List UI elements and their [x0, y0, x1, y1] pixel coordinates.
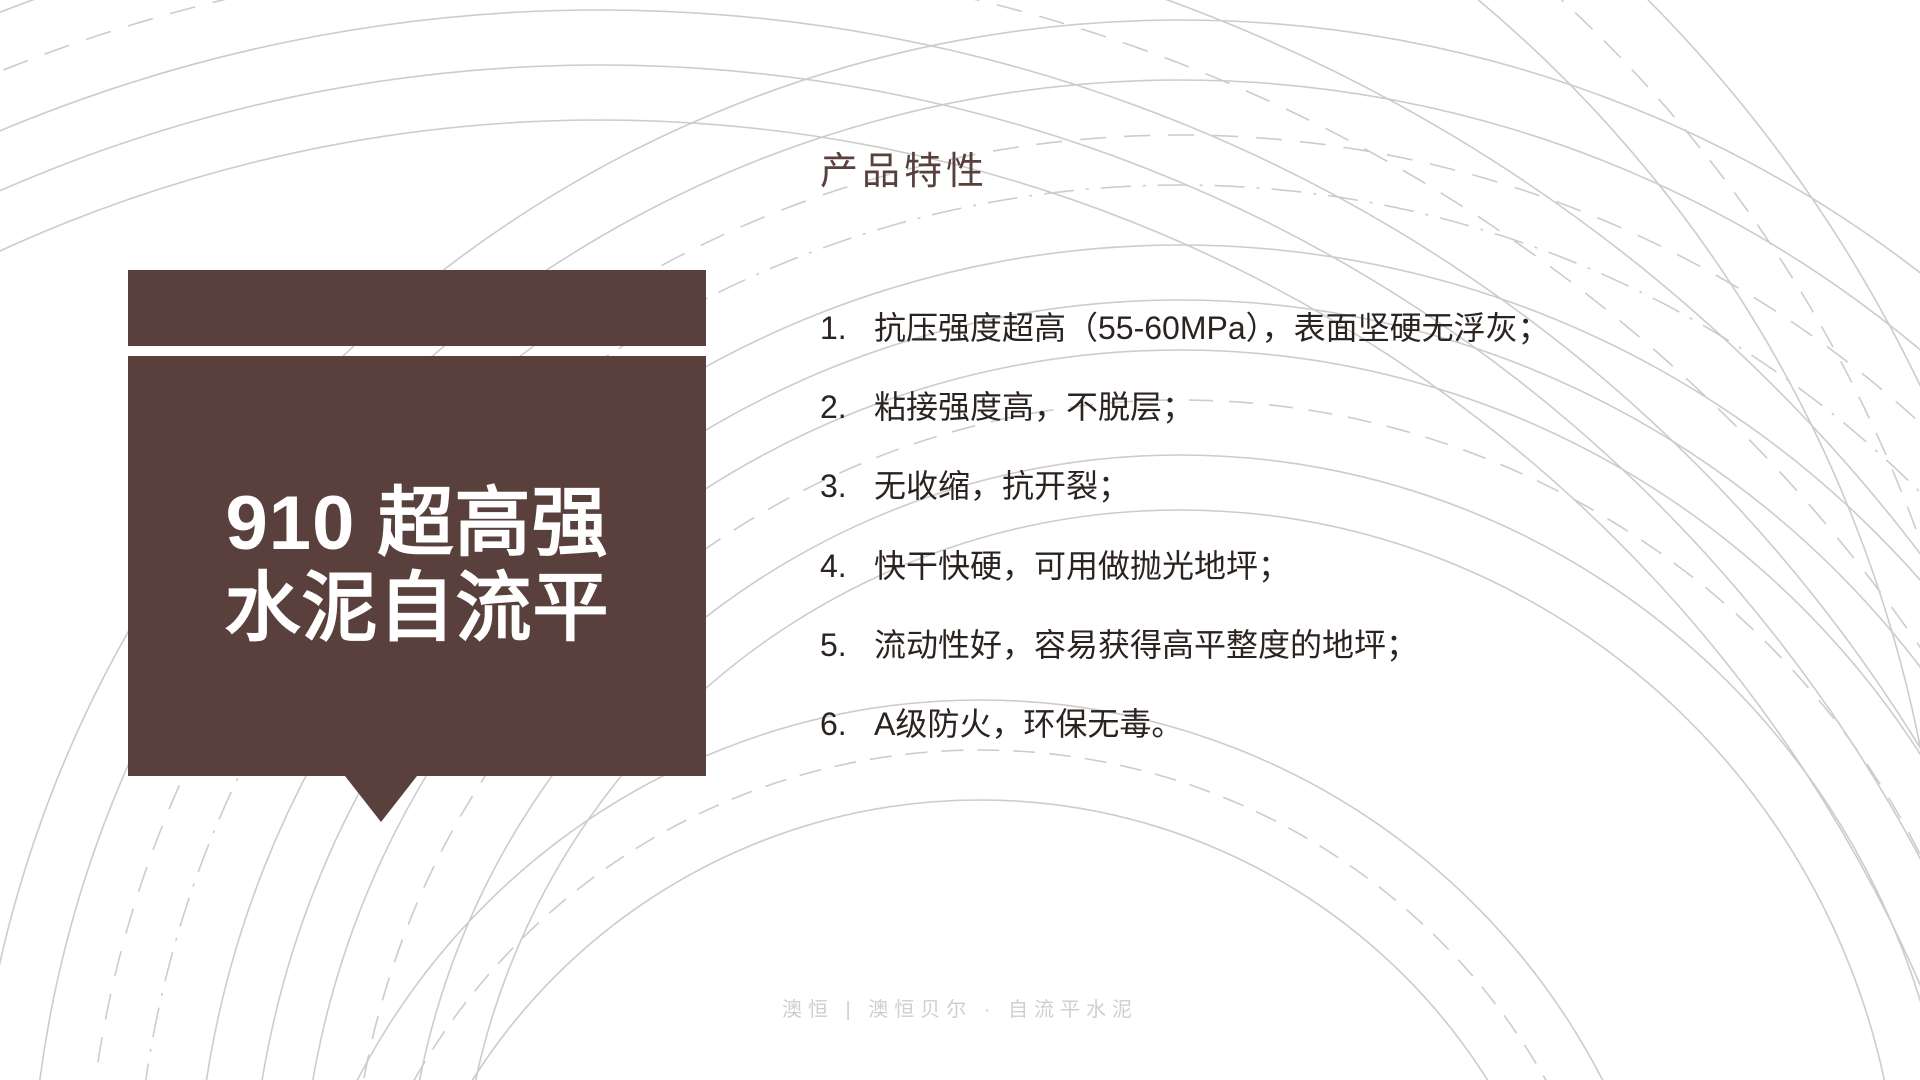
feature-number: 3. — [820, 465, 874, 508]
feature-list-item: 3. 无收缩，抗开裂； — [820, 465, 1820, 508]
feature-text: 抗压强度超高（55-60MPa），表面坚硬无浮灰； — [874, 307, 1550, 350]
section-heading: 产品特性 — [820, 140, 1820, 195]
feature-number: 4. — [820, 545, 874, 588]
feature-list-item: 2. 粘接强度高，不脱层； — [820, 386, 1820, 429]
title-card-top-bar — [128, 270, 706, 346]
feature-list-item: 5. 流动性好，容易获得高平整度的地坪； — [820, 624, 1820, 667]
footer-brand-text: 澳恒 | 澳恒贝尔 · 自流平水泥 — [782, 999, 1138, 1021]
title-card-divider-gap — [128, 346, 706, 356]
footer: 澳恒 | 澳恒贝尔 · 自流平水泥 — [0, 993, 1920, 1022]
feature-text: A级防火，环保无毒。 — [874, 703, 1183, 746]
feature-list: 1. 抗压强度超高（55-60MPa），表面坚硬无浮灰； 2. 粘接强度高，不脱… — [820, 307, 1820, 746]
feature-list-item: 1. 抗压强度超高（55-60MPa），表面坚硬无浮灰； — [820, 307, 1820, 350]
title-card-body: 910 超高强 水泥自流平 — [128, 356, 706, 776]
content-column: 产品特性 1. 抗压强度超高（55-60MPa），表面坚硬无浮灰； 2. 粘接强… — [820, 140, 1820, 746]
feature-text: 流动性好，容易获得高平整度的地坪； — [874, 624, 1418, 667]
product-title-line-2: 水泥自流平 — [225, 566, 610, 651]
slide-root: 910 超高强 水泥自流平 产品特性 1. 抗压强度超高（55-60MPa），表… — [0, 0, 1920, 1080]
feature-text: 无收缩，抗开裂； — [874, 465, 1130, 508]
product-title-line-1: 910 超高强 — [226, 481, 609, 566]
feature-number: 5. — [820, 624, 874, 667]
feature-number: 1. — [820, 307, 874, 350]
title-card: 910 超高强 水泥自流平 — [128, 270, 706, 776]
feature-number: 6. — [820, 703, 874, 746]
feature-list-item: 6. A级防火，环保无毒。 — [820, 703, 1820, 746]
title-card-pointer-triangle — [345, 776, 417, 822]
feature-list-item: 4. 快干快硬，可用做抛光地坪； — [820, 545, 1820, 588]
feature-text: 快干快硬，可用做抛光地坪； — [874, 545, 1290, 588]
feature-text: 粘接强度高，不脱层； — [874, 386, 1194, 429]
feature-number: 2. — [820, 386, 874, 429]
